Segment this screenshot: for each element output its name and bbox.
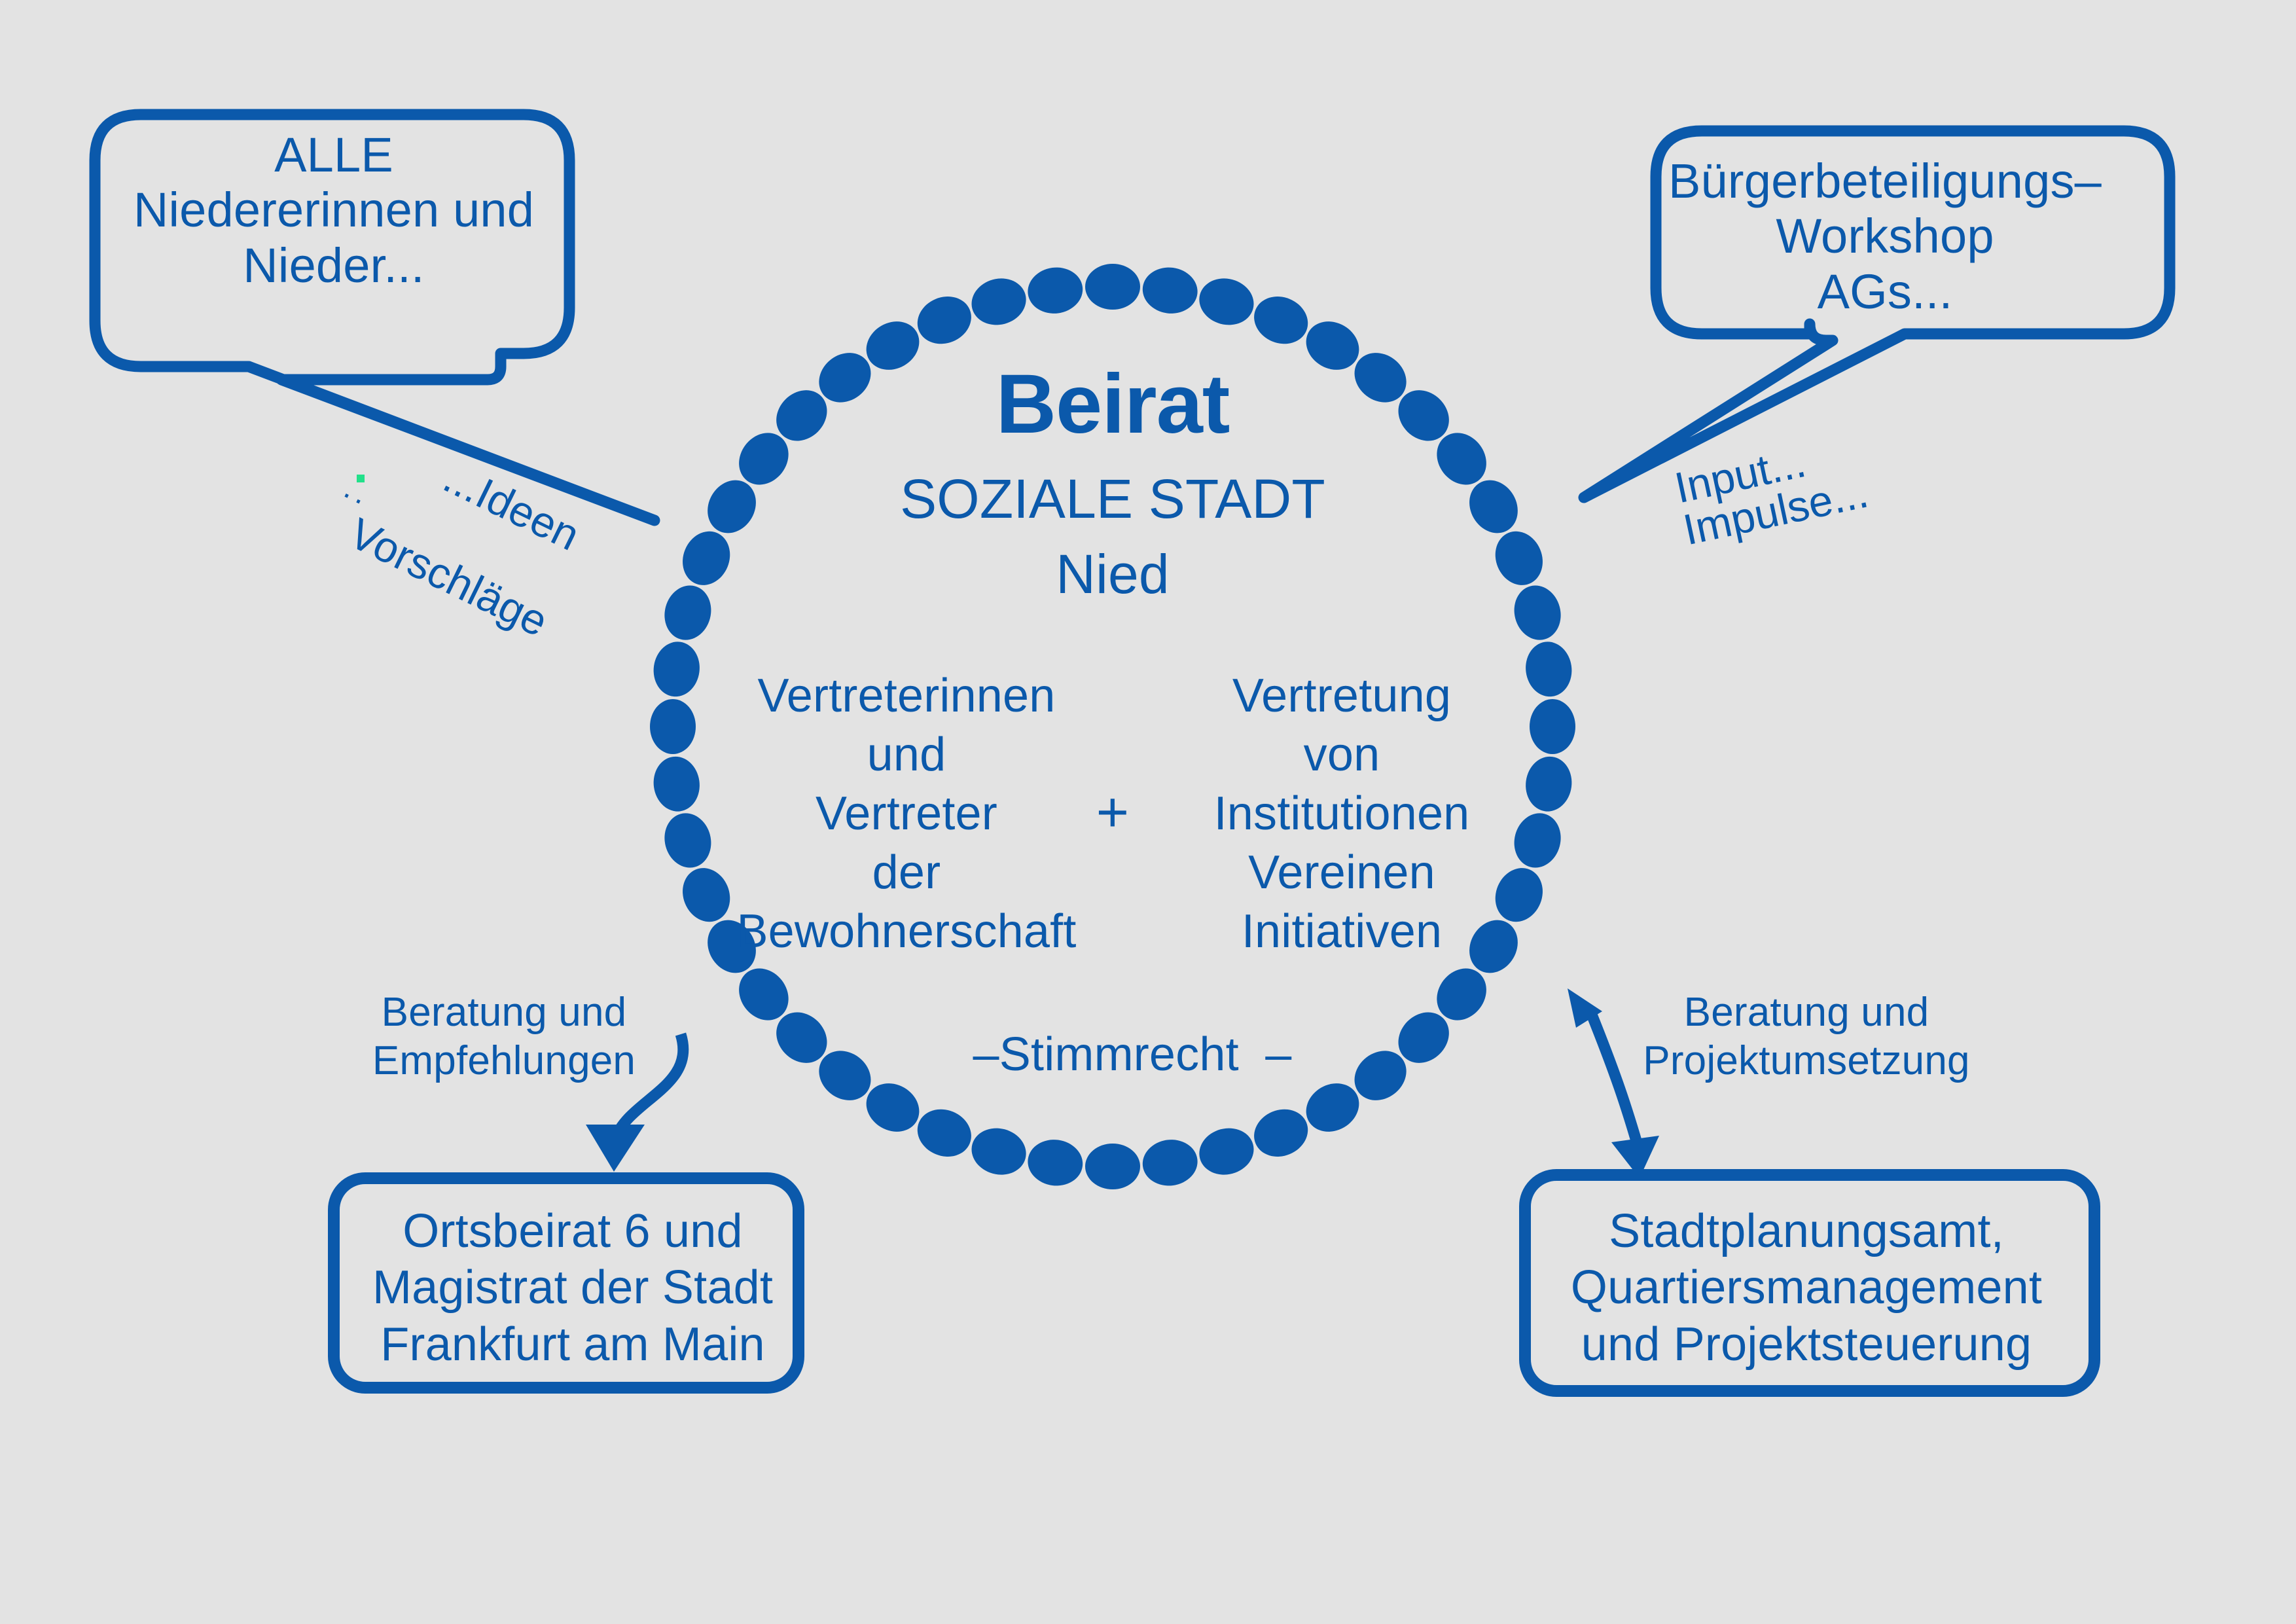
beratung-projektumsetzung-label: Beratung und Projektumsetzung: [1643, 988, 1970, 1086]
alle-niedererinnen-bubble-label: ALLE Niedererinnen und Nieder...: [98, 128, 569, 293]
ortsbeirat-magistrat-box-label: Ortsbeirat 6 und Magistrat der Stadt Fra…: [344, 1203, 802, 1373]
subtitle-soziale-stadt: SOZIALE STADT: [805, 468, 1420, 531]
ring-dot: [910, 289, 978, 352]
ring-dot: [1487, 524, 1551, 592]
ring-dot: [1194, 1122, 1259, 1180]
ring-dot: [658, 580, 717, 645]
ring-dot: [651, 639, 703, 699]
diagram-canvas: ALLE Niedererinnen und Nieder... Bürgerb…: [0, 0, 2296, 1624]
ring-dot: [650, 699, 696, 754]
ring-dot: [1025, 1136, 1085, 1189]
ring-dot: [1025, 264, 1085, 317]
subtitle-nied: Nied: [805, 543, 1420, 606]
ring-dot: [1194, 272, 1259, 331]
ring-dot: [1085, 1144, 1140, 1189]
ring-dot: [966, 272, 1031, 331]
ring-dot: [651, 754, 703, 814]
members-institutions-column: Vertretung von Institutionen Vereinen In…: [1178, 666, 1505, 961]
stimmrecht-label: –Stimmrecht –: [903, 1028, 1361, 1081]
ring-dot: [910, 1101, 978, 1164]
plus-icon: +: [1073, 780, 1152, 844]
members-residents-column: Vertreterinnen und Vertreter der Bewohne…: [704, 666, 1109, 961]
buergerbeteiligung-bubble-label: Bürgerbeteiligungs– Workshop AGs...: [1656, 154, 2114, 319]
ring-dot: [1247, 1101, 1315, 1164]
ring-dot: [1247, 289, 1315, 352]
ring-dot: [675, 524, 738, 592]
ring-dot: [966, 1122, 1031, 1180]
beratung-empfehlungen-label: Beratung und Empfehlungen: [367, 988, 641, 1086]
ring-dot: [1085, 264, 1140, 310]
stadtplanungsamt-box-label: Stadtplanungsamt, Quartiersmanagement un…: [1538, 1203, 2075, 1373]
ring-dot: [1530, 699, 1575, 754]
page-title: Beirat: [805, 357, 1420, 452]
ring-dot: [1508, 580, 1566, 645]
ring-dot: [1140, 264, 1200, 317]
ring-dot: [1522, 639, 1575, 699]
ring-dot: [1508, 808, 1566, 873]
ring-dot: [1522, 754, 1575, 814]
ring-dot: [1140, 1136, 1200, 1189]
